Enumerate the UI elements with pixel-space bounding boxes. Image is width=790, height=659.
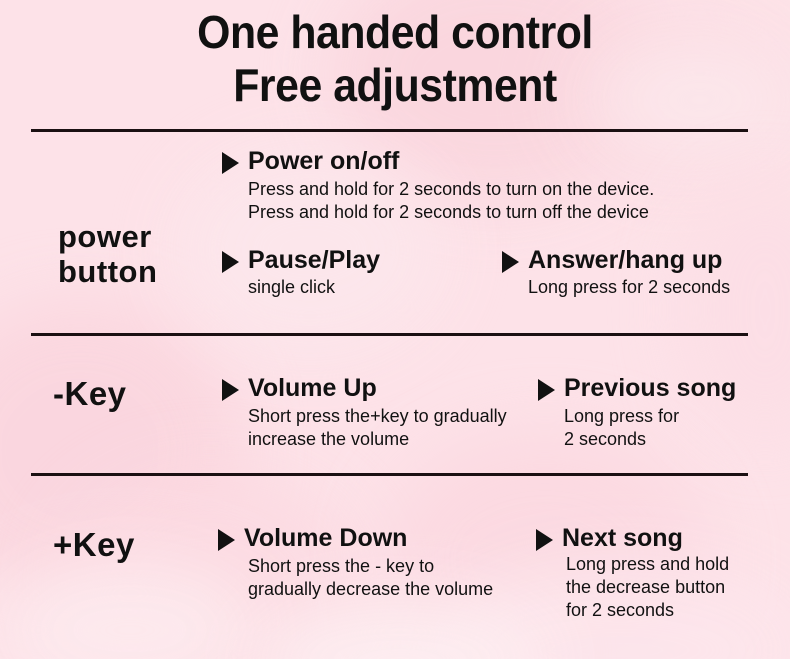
- feature-title: Volume Up: [248, 374, 377, 403]
- feature-volume-up: Volume Up Short press the+key to gradual…: [222, 374, 507, 451]
- feature-description: Long press for 2 seconds: [528, 276, 730, 299]
- page-title-line-1: One handed control: [28, 6, 763, 59]
- feature-volume-down: Volume Down Short press the - key to gra…: [218, 524, 493, 601]
- feature-description: single click: [248, 276, 380, 299]
- feature-previous-song: Previous song Long press for 2 seconds: [538, 374, 736, 451]
- row-label-minus-key: -Key: [53, 376, 127, 411]
- triangle-right-icon: [222, 251, 239, 273]
- feature-heading: Volume Up: [222, 374, 507, 403]
- triangle-right-icon: [536, 529, 553, 551]
- feature-next-song: Next song Long press and hold the decrea…: [536, 524, 729, 622]
- feature-power-on-off: Power on/off Press and hold for 2 second…: [222, 147, 654, 224]
- section-divider-3: [31, 473, 748, 476]
- feature-pause-play: Pause/Play single click: [222, 246, 380, 299]
- section-divider-1: [31, 129, 748, 132]
- feature-title: Volume Down: [244, 524, 407, 553]
- feature-title: Power on/off: [248, 147, 399, 176]
- feature-description: Short press the - key to gradually decre…: [248, 555, 493, 601]
- feature-description: Long press for 2 seconds: [564, 405, 736, 451]
- feature-title: Answer/hang up: [528, 246, 722, 275]
- triangle-right-icon: [222, 379, 239, 401]
- section-divider-2: [31, 333, 748, 336]
- triangle-right-icon: [538, 379, 555, 401]
- feature-description: Press and hold for 2 seconds to turn on …: [248, 178, 654, 224]
- infographic-panel: One handed control Free adjustment power…: [0, 0, 790, 659]
- feature-heading: Volume Down: [218, 524, 493, 553]
- feature-title: Next song: [562, 524, 683, 553]
- triangle-right-icon: [218, 529, 235, 551]
- row-label-power-button: power button: [58, 219, 157, 289]
- feature-heading: Answer/hang up: [502, 246, 730, 275]
- feature-heading: Power on/off: [222, 147, 654, 176]
- page-title: One handed control Free adjustment: [0, 6, 790, 112]
- feature-heading: Pause/Play: [222, 246, 380, 275]
- background-blob: [250, 600, 550, 659]
- feature-title: Pause/Play: [248, 246, 380, 275]
- feature-heading: Previous song: [538, 374, 736, 403]
- page-title-line-2: Free adjustment: [28, 59, 763, 112]
- feature-answer-hang-up: Answer/hang up Long press for 2 seconds: [502, 246, 730, 299]
- feature-description: Short press the+key to gradually increas…: [248, 405, 507, 451]
- feature-description: Long press and hold the decrease button …: [566, 553, 729, 622]
- row-label-plus-key: +Key: [53, 527, 135, 562]
- triangle-right-icon: [502, 251, 519, 273]
- triangle-right-icon: [222, 152, 239, 174]
- feature-title: Previous song: [564, 374, 736, 403]
- feature-heading: Next song: [536, 524, 729, 553]
